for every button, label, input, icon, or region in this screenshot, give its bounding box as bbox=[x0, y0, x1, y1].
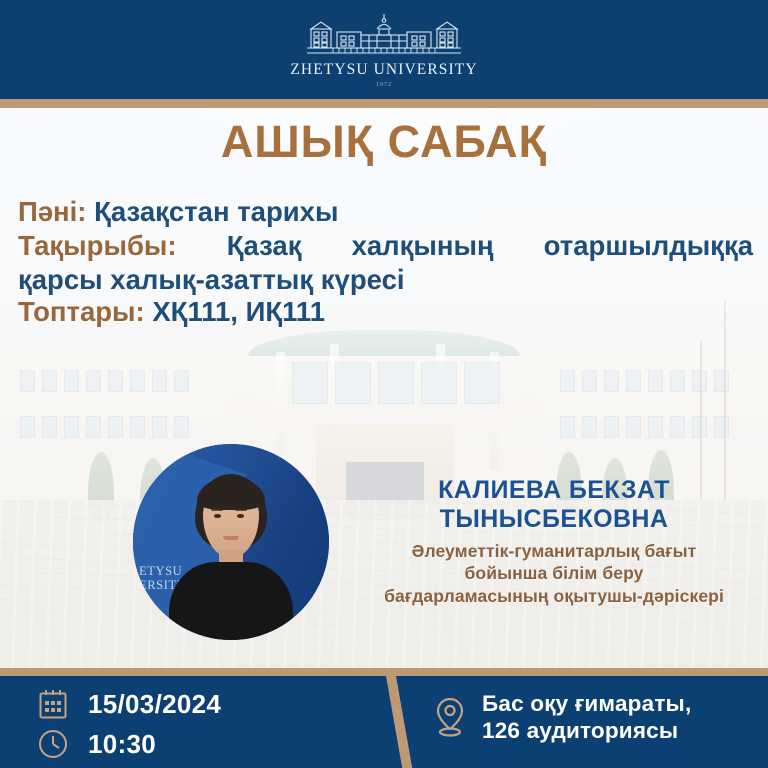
figure-eyebrow bbox=[235, 508, 247, 511]
topic-label: Тақырыбы: bbox=[18, 230, 177, 261]
calendar-icon bbox=[36, 687, 70, 721]
map-pin-icon bbox=[432, 696, 468, 738]
speaker-role-line-2: бойынша білім беру bbox=[352, 562, 756, 584]
speaker-name: КАЛИЕВА БЕКЗАТ ТЫНЫСБЕКОВНА bbox=[352, 476, 756, 534]
footer-location-group: Бас оқу ғимараты, 126 аудиториясы bbox=[432, 690, 752, 745]
figure-hair-front bbox=[197, 478, 265, 510]
event-location-line-2: 126 аудиториясы bbox=[482, 717, 691, 744]
speaker-name-line-2: ТЫНЫСБЕКОВНА bbox=[352, 505, 756, 534]
footer-gold-divider bbox=[0, 668, 768, 676]
subject-label: Пәні: bbox=[18, 196, 86, 227]
lesson-info-block: Пәні: Қазақстан тарихы Тақырыбы: Қазақ х… bbox=[18, 196, 753, 330]
footer-time-row: 10:30 bbox=[36, 724, 366, 764]
speaker-details: КАЛИЕВА БЕКЗАТ ТЫНЫСБЕКОВНА Әлеуметтік-г… bbox=[352, 476, 756, 607]
info-row-subject: Пәні: Қазақстан тарихы bbox=[18, 196, 753, 228]
university-wordmark: ZHETYSU UNIVERSITY bbox=[290, 62, 477, 78]
clock-icon bbox=[36, 727, 70, 761]
speaker-figure bbox=[161, 474, 301, 640]
figure-mouth bbox=[223, 536, 239, 540]
university-founded-year: 1972 bbox=[376, 82, 392, 88]
footer-date-row: 15/03/2024 bbox=[36, 684, 366, 724]
header-gold-divider bbox=[0, 99, 768, 108]
footer-datetime-group: 15/03/2024 10:30 bbox=[36, 684, 366, 764]
university-building-icon bbox=[299, 13, 469, 59]
speaker-role-line-1: Әлеуметтік-гуманитарлық бағыт bbox=[352, 540, 756, 562]
subject-value: Қазақстан тарихы bbox=[94, 196, 338, 227]
topic-line-1: Тақырыбы: Қазақ халқының отаршылдыққа bbox=[18, 230, 753, 262]
page-title: АШЫҚ САБАҚ bbox=[0, 118, 768, 165]
groups-value: ХҚ111, ИҚ111 bbox=[152, 296, 325, 327]
poster-header: ZHETYSU UNIVERSITY 1972 bbox=[0, 0, 768, 99]
info-row-groups: Топтары: ХҚ111, ИҚ111 bbox=[18, 296, 753, 328]
groups-label: Топтары: bbox=[18, 296, 145, 327]
event-date: 15/03/2024 bbox=[88, 691, 221, 717]
speaker-portrait: ETYSU ERSITY bbox=[133, 444, 329, 640]
open-lesson-poster: ZHETYSU UNIVERSITY 1972 АШЫҚ САБАҚ Пәні:… bbox=[0, 0, 768, 768]
info-row-topic: Тақырыбы: Қазақ халқының отаршылдыққа bbox=[18, 230, 753, 262]
speaker-role: Әлеуметтік-гуманитарлық бағыт бойынша бі… bbox=[352, 540, 756, 607]
speaker-name-line-1: КАЛИЕВА БЕКЗАТ bbox=[352, 476, 756, 505]
topic-value-part-1: Қазақ халқының отаршылдыққа bbox=[227, 230, 753, 261]
event-time: 10:30 bbox=[88, 731, 156, 757]
figure-eye bbox=[214, 514, 221, 518]
figure-eyebrow bbox=[211, 508, 223, 511]
university-logo: ZHETYSU UNIVERSITY 1972 bbox=[290, 13, 477, 88]
figure-eye bbox=[237, 514, 244, 518]
event-location: Бас оқу ғимараты, 126 аудиториясы bbox=[482, 690, 691, 745]
topic-value-part-2: қарсы халық-азаттық күресі bbox=[18, 264, 753, 296]
speaker-role-line-3: бағдарламасының оқытушы-дәріскері bbox=[352, 585, 756, 607]
event-location-line-1: Бас оқу ғимараты, bbox=[482, 690, 691, 717]
figure-torso bbox=[169, 562, 293, 640]
